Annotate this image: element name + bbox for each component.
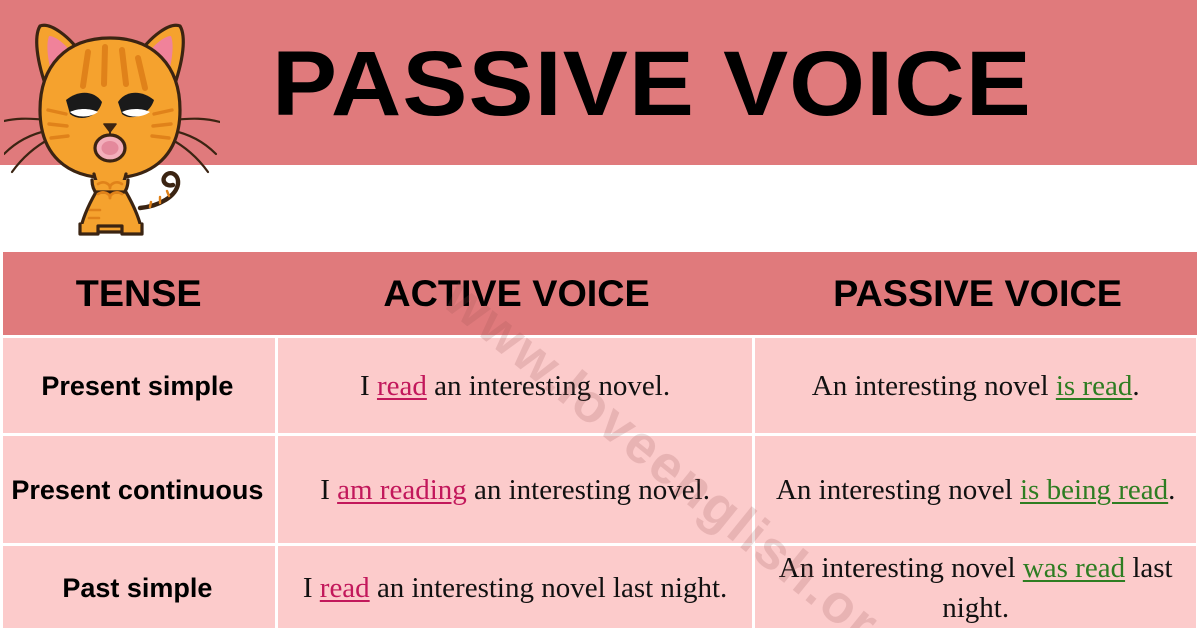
column-header-tense-label: TENSE [76, 274, 202, 314]
left-edge-trim [0, 252, 3, 628]
active-voice-sentence: I read an interesting novel. [360, 366, 670, 406]
passive-voice-cell: An interesting novel is being read. [755, 436, 1196, 543]
active-highlight: am reading [337, 474, 467, 506]
active-voice-cell: I am reading an interesting novel. [278, 436, 753, 543]
active-highlight: read [320, 572, 370, 604]
passive-voice-cell: An interesting novel is read. [755, 338, 1196, 433]
tense-cell: Present simple [0, 338, 275, 433]
passive-voice-sentence: An interesting novel is being read. [776, 470, 1175, 510]
tense-label: Present simple [41, 369, 233, 403]
active-highlight: read [377, 370, 427, 402]
column-header-passive-voice-label: PASSIVE VOICE [834, 274, 1123, 314]
active-voice-cell: I read an interesting novel last night. [278, 546, 753, 628]
cat-mascot-icon [4, 14, 220, 236]
passive-voice-poster: PASSIVE VOICE [0, 0, 1200, 628]
column-header-active-voice-label: ACTIVE VOICE [384, 274, 650, 314]
voice-comparison-table: TENSE ACTIVE VOICE PASSIVE VOICE Present… [0, 252, 1200, 628]
passive-voice-cell: An interesting novel was read last night… [755, 546, 1196, 628]
column-header-active-voice: ACTIVE VOICE [278, 252, 756, 335]
active-voice-sentence: I read an interesting novel last night. [303, 568, 727, 608]
tense-label: Present continuous [11, 473, 263, 507]
passive-highlight: is being read [1020, 474, 1168, 506]
passive-highlight: was read [1023, 552, 1125, 584]
table-row: Present simple I read an interesting nov… [0, 338, 1200, 433]
page-title: PASSIVE VOICE [272, 36, 1078, 132]
table-row: Present continuous I am reading an inter… [0, 436, 1200, 543]
tense-label: Past simple [62, 571, 212, 605]
passive-voice-sentence: An interesting novel is read. [812, 366, 1140, 406]
passive-highlight: is read [1056, 370, 1133, 402]
column-header-tense: TENSE [0, 252, 278, 335]
table-row: Past simple I read an interesting novel … [0, 546, 1200, 628]
passive-voice-sentence: An interesting novel was read last night… [765, 548, 1186, 628]
table-header-row: TENSE ACTIVE VOICE PASSIVE VOICE [0, 252, 1200, 335]
tense-cell: Present continuous [0, 436, 275, 543]
column-header-passive-voice: PASSIVE VOICE [756, 252, 1200, 335]
active-voice-cell: I read an interesting novel. [278, 338, 753, 433]
active-voice-sentence: I am reading an interesting novel. [320, 470, 710, 510]
tense-cell: Past simple [0, 546, 275, 628]
